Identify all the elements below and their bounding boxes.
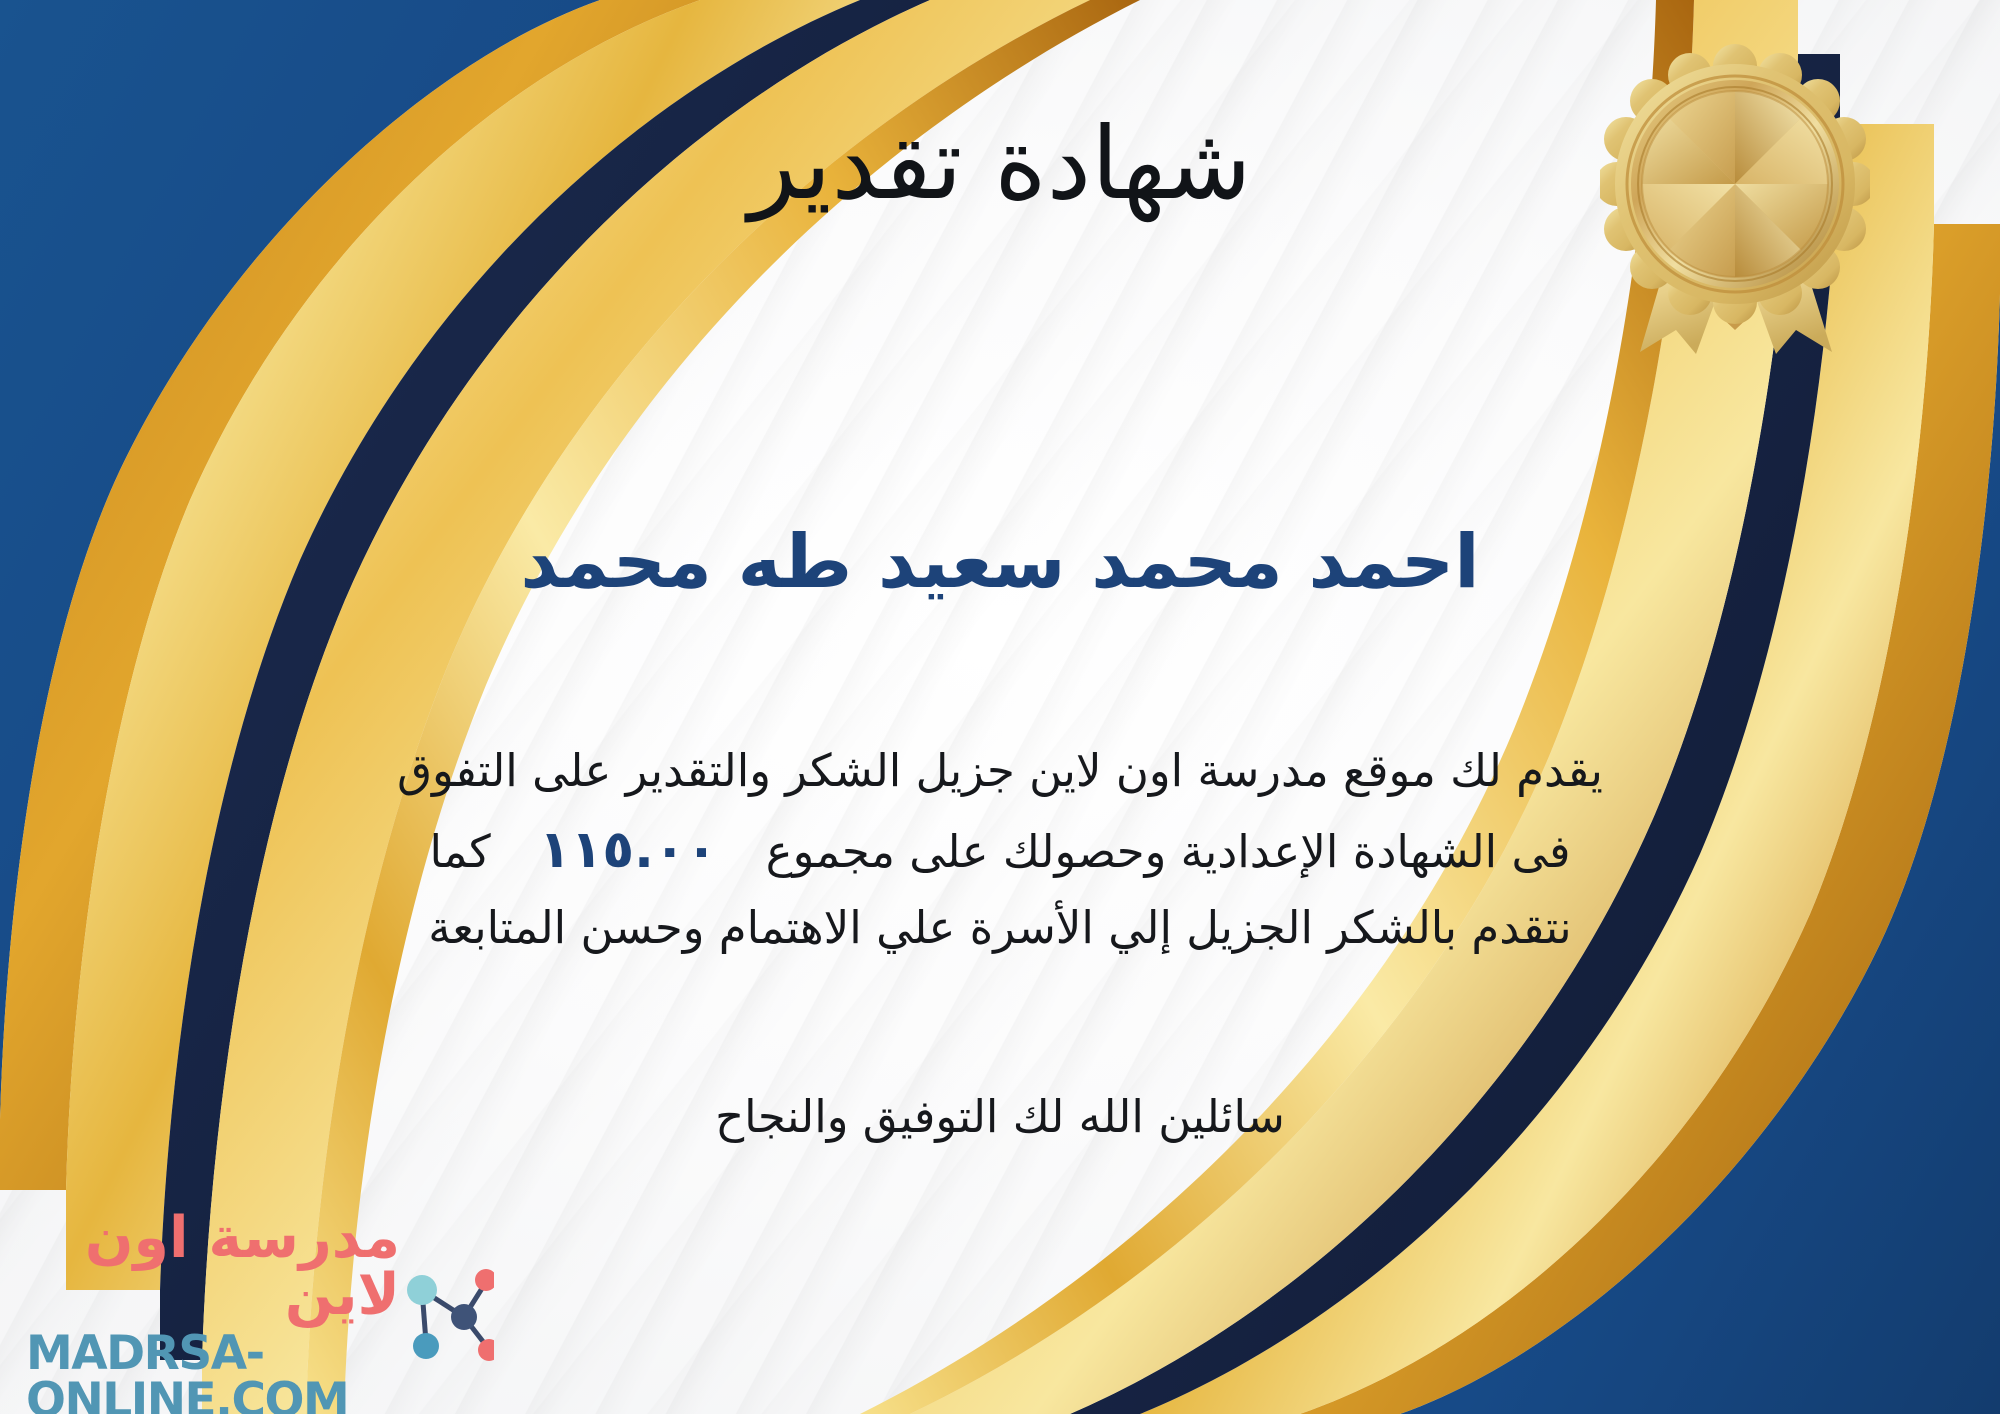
brand-name-arabic: مدرسة اون لاين xyxy=(26,1210,400,1324)
grade-total-value: ١١٥.٠٠ xyxy=(505,808,751,892)
closing-wish-line: سائلين الله لك التوفيق والنجاح xyxy=(0,1090,2000,1143)
body-line-3: نتقدم بالشكر الجزيل إلي الأسرة علي الاهت… xyxy=(105,892,1895,965)
certificate-canvas: شهادة تقدير احمد محمد سعيد طه محمد يقدم … xyxy=(0,0,2000,1414)
certificate-title: شهادة تقدير xyxy=(0,108,2000,220)
brand-logo[interactable]: مدرسة اون لاين MADRSA-ONLINE.COM xyxy=(26,1242,496,1392)
body-line-1: يقدم لك موقع مدرسة اون لاين جزيل الشكر و… xyxy=(105,735,1895,808)
certificate-content: شهادة تقدير احمد محمد سعيد طه محمد يقدم … xyxy=(0,0,2000,1414)
recipient-name: احمد محمد سعيد طه محمد xyxy=(0,520,2000,605)
body-line-2: فى الشهادة الإعدادية وحصولك على مجموع ١١… xyxy=(105,808,1895,892)
network-nodes-icon xyxy=(404,1262,494,1372)
certificate-body-text: يقدم لك موقع مدرسة اون لاين جزيل الشكر و… xyxy=(105,735,1895,965)
brand-website: MADRSA-ONLINE.COM xyxy=(26,1330,400,1414)
body-line-2-suffix: كما xyxy=(429,825,490,878)
body-line-2-prefix: فى الشهادة الإعدادية وحصولك على مجموع xyxy=(766,825,1571,878)
